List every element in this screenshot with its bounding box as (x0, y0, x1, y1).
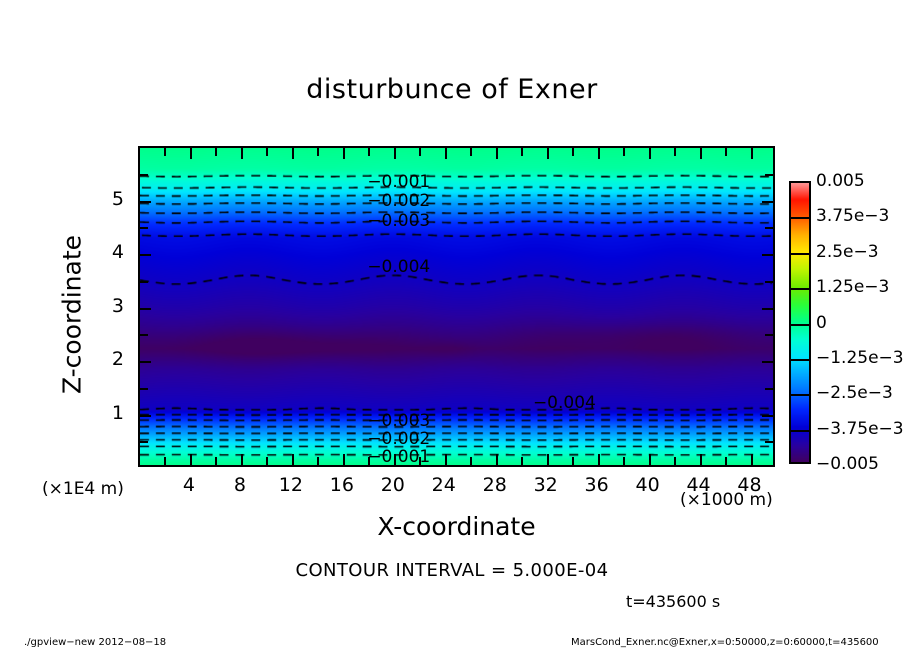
x-axis-tick (266, 457, 268, 465)
x-tick-label: 36 (574, 474, 620, 496)
y-axis-tick (140, 388, 148, 390)
x-axis-tick (266, 148, 268, 156)
contour-field-canvas (140, 148, 773, 465)
x-axis-tick (674, 457, 676, 465)
colorbar-separator (791, 394, 809, 396)
y-axis-tick (765, 334, 773, 336)
x-axis-unit: (×1000 m) (680, 490, 773, 510)
colorbar-tick-label: −0.005 (816, 454, 879, 474)
y-axis-tick (762, 308, 773, 310)
x-tick-label: 32 (523, 474, 569, 496)
y-axis-tick (765, 227, 773, 229)
x-axis-tick (623, 148, 625, 156)
footer-command: ./gpview−new 2012−08−18 (24, 637, 166, 648)
y-axis-tick (140, 441, 148, 443)
x-axis-tick (292, 148, 294, 159)
x-axis-tick (445, 148, 447, 159)
contour-plot-area (138, 146, 775, 467)
x-axis-tick (190, 454, 192, 465)
x-tick-label: 4 (166, 474, 212, 496)
x-axis-tick (215, 148, 217, 156)
y-axis-tick (762, 201, 773, 203)
contour-label: −0.002 (367, 191, 430, 211)
x-axis-tick (725, 457, 727, 465)
x-tick-label: 28 (472, 474, 518, 496)
contour-label: −0.001 (367, 447, 430, 467)
colorbar-separator (791, 359, 809, 361)
x-axis-tick (700, 148, 702, 159)
y-axis-tick (765, 174, 773, 176)
y-axis-tick (762, 415, 773, 417)
contour-label: −0.003 (367, 211, 430, 231)
x-axis-tick (725, 148, 727, 156)
x-axis-tick (394, 148, 396, 159)
y-axis-tick (140, 174, 148, 176)
colorbar-gradient (791, 183, 809, 462)
x-axis-title: X-coordinate (138, 512, 775, 541)
x-axis-tick (419, 148, 421, 156)
colorbar-tick-label: −2.5e−3 (816, 383, 893, 403)
x-axis-tick (572, 148, 574, 156)
y-tick-label: 4 (94, 241, 124, 263)
y-axis-tick (765, 388, 773, 390)
x-axis-tick (674, 148, 676, 156)
x-axis-tick (164, 148, 166, 156)
colorbar-separator (791, 288, 809, 290)
x-tick-label: 24 (421, 474, 467, 496)
contour-label: −0.002 (367, 429, 430, 449)
x-axis-tick (521, 148, 523, 156)
contour-label: −0.001 (367, 172, 430, 192)
x-axis-tick (241, 454, 243, 465)
x-tick-label: 40 (625, 474, 671, 496)
colorbar-tick-label: −1.25e−3 (816, 348, 904, 368)
x-axis-tick (343, 454, 345, 465)
colorbar-tick-label: 1.25e−3 (816, 277, 889, 297)
y-axis-tick (140, 361, 151, 363)
x-axis-tick (317, 457, 319, 465)
colorbar-tick-label: 0 (816, 313, 827, 333)
colorbar-tick-label: −3.75e−3 (816, 419, 904, 439)
colorbar (789, 181, 811, 464)
page-title: disturbunce of Exner (0, 74, 904, 105)
x-tick-label: 16 (319, 474, 365, 496)
x-axis-tick (521, 457, 523, 465)
y-axis-tick (140, 201, 151, 203)
x-axis-tick (623, 457, 625, 465)
x-axis-tick (547, 454, 549, 465)
x-tick-label: 20 (370, 474, 416, 496)
y-axis-title: Z-coordinate (58, 185, 87, 445)
y-axis-tick (140, 227, 148, 229)
x-axis-tick (598, 148, 600, 159)
y-tick-label: 1 (94, 402, 124, 424)
y-tick-label: 3 (94, 295, 124, 317)
y-axis-tick (765, 441, 773, 443)
y-axis-tick (140, 308, 151, 310)
x-axis-tick (572, 457, 574, 465)
x-tick-label: 8 (217, 474, 263, 496)
x-axis-tick (215, 457, 217, 465)
x-axis-tick (547, 148, 549, 159)
colorbar-separator (791, 253, 809, 255)
colorbar-tick-label: 0.005 (816, 171, 865, 191)
x-axis-tick (445, 454, 447, 465)
y-tick-label: 2 (94, 348, 124, 370)
y-axis-unit: (×1E4 m) (42, 479, 124, 499)
colorbar-separator (791, 217, 809, 219)
time-stamp: t=435600 s (626, 592, 720, 611)
x-axis-tick (470, 457, 472, 465)
x-axis-tick (496, 148, 498, 159)
y-axis-tick (765, 281, 773, 283)
y-axis-tick (140, 415, 151, 417)
x-axis-tick (368, 148, 370, 156)
y-tick-label: 5 (94, 188, 124, 210)
x-axis-tick (190, 148, 192, 159)
colorbar-tick-label: 2.5e−3 (816, 242, 879, 262)
colorbar-tick-label: 3.75e−3 (816, 206, 889, 226)
footer-dataset: MarsCond_Exner.nc@Exner,x=0:50000,z=0:60… (571, 637, 879, 648)
y-axis-tick (762, 254, 773, 256)
x-axis-tick (164, 457, 166, 465)
x-axis-tick (598, 454, 600, 465)
x-tick-label: 12 (268, 474, 314, 496)
x-axis-tick (751, 454, 753, 465)
x-axis-tick (343, 148, 345, 159)
contour-label: −0.003 (367, 411, 430, 431)
x-axis-tick (470, 148, 472, 156)
x-axis-tick (241, 148, 243, 159)
x-axis-tick (751, 148, 753, 159)
colorbar-separator (791, 324, 809, 326)
x-axis-tick (317, 148, 319, 156)
x-axis-tick (496, 454, 498, 465)
contour-label: −0.004 (533, 393, 596, 413)
y-axis-tick (762, 361, 773, 363)
x-axis-tick (649, 454, 651, 465)
x-axis-tick (292, 454, 294, 465)
colorbar-separator (791, 430, 809, 432)
contour-interval-text: CONTOUR INTERVAL = 5.000E-04 (0, 560, 904, 581)
y-axis-tick (140, 281, 148, 283)
y-axis-tick (140, 334, 148, 336)
y-axis-tick (140, 254, 151, 256)
contour-label: −0.004 (367, 257, 430, 277)
x-axis-tick (700, 454, 702, 465)
x-axis-tick (649, 148, 651, 159)
